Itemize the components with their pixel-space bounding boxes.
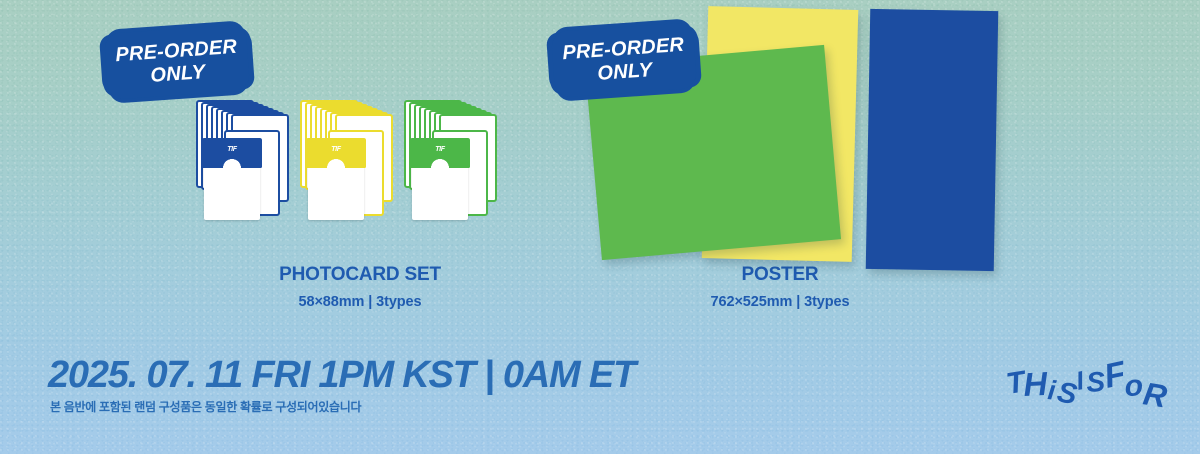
release-datetime: 2025. 07. 11 FRI 1PM KST | 0AM ET xyxy=(48,354,635,397)
poster-caption: POSTER 762×525mm | 3types xyxy=(620,264,940,310)
this-is-for-logo: T H i S I S F o R xyxy=(1006,338,1174,422)
preorder-promo-banner: PRE-ORDER ONLY TIF xyxy=(0,0,1200,454)
badge-line-2: ONLY xyxy=(150,62,206,86)
poster-spec: 762×525mm | 3types xyxy=(620,294,940,310)
logo-letter-O: o xyxy=(1124,369,1143,403)
logo-letter-R: R xyxy=(1141,375,1169,414)
photocard-stack-green: TIF xyxy=(404,100,512,232)
photocard-spec: 58×88mm | 3types xyxy=(200,294,520,310)
photocard-stack-yellow: TIF xyxy=(300,100,408,232)
photocard-caption: PHOTOCARD SET 58×88mm | 3types xyxy=(200,264,520,310)
random-contents-disclaimer: 본 음반에 포함된 랜덤 구성품은 동일한 확률로 구성되어있습니다 xyxy=(50,398,361,415)
photocard-sleeve xyxy=(306,138,366,168)
logo-letter-H: H xyxy=(1022,365,1049,403)
preorder-only-badge-photocard: PRE-ORDER ONLY xyxy=(116,32,237,92)
poster-blue xyxy=(866,9,999,271)
photocard-title: PHOTOCARD SET xyxy=(200,264,520,286)
preorder-only-badge-poster: PRE-ORDER ONLY xyxy=(563,30,684,90)
badge-line-2: ONLY xyxy=(597,60,653,84)
photocard-stack-blue: TIF xyxy=(196,100,304,232)
photocard-sleeve xyxy=(410,138,470,168)
photocard-sleeve xyxy=(202,138,262,168)
